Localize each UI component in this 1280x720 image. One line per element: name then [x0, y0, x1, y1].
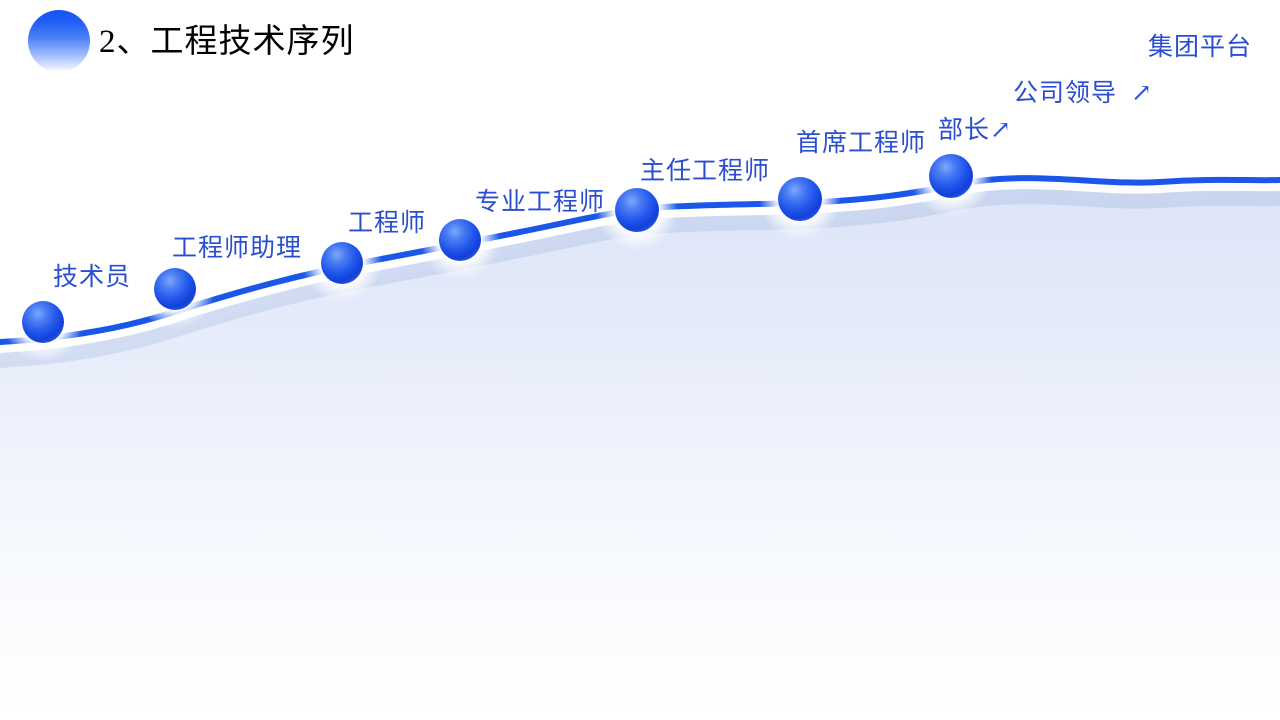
destination-label-text: 部长: [938, 117, 990, 144]
node-label-professional-engineer: 专业工程师: [475, 189, 605, 217]
node-sphere-director-engineer[interactable]: [615, 188, 659, 232]
destination-group-platform: 集团平台: [1148, 34, 1252, 62]
node-sphere-assistant-engineer[interactable]: [154, 268, 196, 310]
arrow-ne-icon: ↗: [1131, 80, 1153, 108]
page-title: 2、工程技术序列: [99, 20, 355, 64]
destination-company-leadership: 公司领导↗: [1013, 80, 1153, 108]
node-label-chief-engineer: 首席工程师: [796, 130, 926, 158]
node-sphere-chief-engineer[interactable]: [778, 177, 822, 221]
node-sphere-professional-engineer[interactable]: [439, 219, 481, 261]
arrow-ne-icon: ↗: [990, 117, 1012, 145]
node-label-engineer: 工程师: [348, 210, 426, 238]
node-sphere-engineer[interactable]: [321, 242, 363, 284]
node-sphere-technician[interactable]: [22, 301, 64, 343]
destination-department-head: 部长↗: [938, 117, 1012, 145]
node-label-director-engineer: 主任工程师: [640, 158, 770, 186]
node-sphere-department-head[interactable]: [929, 154, 973, 198]
node-label-technician: 技术员: [53, 264, 131, 292]
destination-label-text: 集团平台: [1148, 34, 1252, 61]
slide-canvas: 2、工程技术序列 技术员 工程师助理 工程师 专业工程师 主任工程师 首席工程师…: [0, 0, 1280, 720]
gradient-sphere-bullet-icon: [28, 10, 90, 72]
page-header: 2、工程技术序列: [0, 0, 520, 88]
destination-label-text: 公司领导: [1013, 80, 1117, 107]
career-path-chart: [0, 0, 1280, 720]
node-label-assistant-engineer: 工程师助理: [172, 235, 302, 263]
